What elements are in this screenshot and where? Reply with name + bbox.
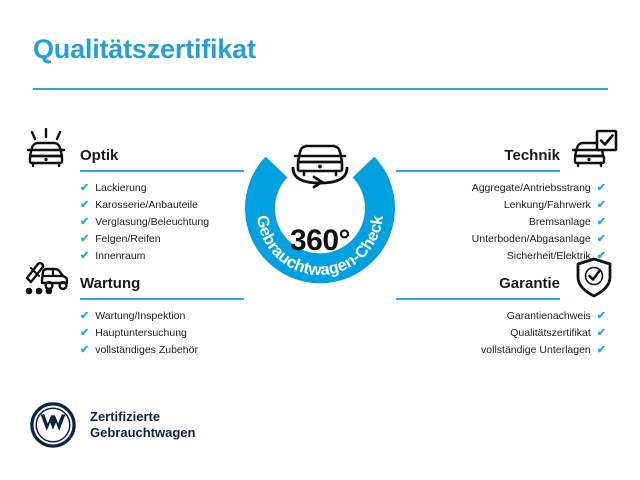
check-icon: ✔ [597, 200, 606, 211]
list-item-label: Verglasung/Beleuchtung [95, 214, 209, 231]
list-item: ✔ Karosserie/Anbauteile [80, 197, 244, 214]
list-item-label: Felgen/Reifen [95, 231, 160, 248]
section-optik-title: Optik [80, 147, 118, 164]
list-item: Garantienachweis ✔ [396, 308, 606, 325]
section-wartung: Wartung ✔ Wartung/Inspektion ✔ Hauptunte… [22, 256, 244, 359]
section-garantie-underline [396, 298, 560, 300]
check-icon: ✔ [597, 311, 606, 322]
list-item: ✔ Lackierung [80, 180, 244, 197]
list-item-label: Wartung/Inspektion [95, 308, 185, 325]
section-optik-header: Optik [22, 128, 244, 174]
wartung-check-list: ✔ Wartung/Inspektion ✔ Hauptuntersuchung… [22, 308, 244, 359]
check-icon: ✔ [80, 217, 89, 228]
vw-logo [30, 402, 76, 448]
list-item-label: Hauptuntersuchung [95, 325, 187, 342]
footer-brand: Zertifizierte Gebrauchtwagen [30, 402, 195, 448]
check-icon: ✔ [597, 234, 606, 245]
check-icon: ✔ [80, 200, 89, 211]
list-item: Lenkung/Fahrwerk ✔ [396, 197, 606, 214]
list-item-label: Unterboden/Abgasanlage [472, 231, 591, 248]
wrench-car-service-icon [22, 256, 70, 300]
list-item-label: Aggregate/Antriebsstrang [472, 180, 591, 197]
list-item: Qualitätszertifikat ✔ [396, 325, 606, 342]
check-icon: ✔ [597, 217, 606, 228]
badge-center-label: 360° [230, 224, 410, 258]
list-item-label: Lackierung [95, 180, 146, 197]
list-item: vollständige Unterlagen ✔ [396, 342, 606, 359]
section-technik-header: Technik [396, 128, 618, 174]
list-item-label: Garantienachweis [507, 308, 591, 325]
section-garantie: Garantie Garantienachweis ✔ Qualitätszer… [396, 256, 618, 359]
section-garantie-title: Garantie [499, 275, 560, 292]
list-item-label: vollständige Unterlagen [481, 342, 591, 359]
list-item-label: vollständiges Zubehör [95, 342, 198, 359]
footer-line-1: Zertifizierte [90, 409, 195, 425]
section-technik-title: Technik [504, 147, 560, 164]
check-icon: ✔ [597, 345, 606, 356]
car-front-checkbox-icon [570, 128, 618, 172]
list-item: Bremsanlage ✔ [396, 214, 606, 231]
section-wartung-underline [80, 298, 244, 300]
check-icon: ✔ [80, 345, 89, 356]
check-icon: ✔ [597, 328, 606, 339]
section-technik-underline [396, 170, 560, 172]
list-item-label: Lenkung/Fahrwerk [504, 197, 591, 214]
list-item: ✔ Verglasung/Beleuchtung [80, 214, 244, 231]
section-optik: Optik ✔ Lackierung ✔ Karosserie/Anbautei… [22, 128, 244, 265]
list-item: ✔ Hauptuntersuchung [80, 325, 244, 342]
section-technik: Technik Aggregate/Antriebsstrang ✔ Lenku… [396, 128, 618, 265]
optik-check-list: ✔ Lackierung ✔ Karosserie/Anbauteile ✔ V… [22, 180, 244, 265]
check-icon: ✔ [80, 183, 89, 194]
list-item-label: Bremsanlage [529, 214, 591, 231]
list-item: Aggregate/Antriebsstrang ✔ [396, 180, 606, 197]
technik-check-list: Aggregate/Antriebsstrang ✔ Lenkung/Fahrw… [396, 180, 618, 265]
title-divider [33, 88, 608, 90]
car-front-shine-icon [22, 128, 70, 172]
check-icon: ✔ [80, 234, 89, 245]
section-wartung-title: Wartung [80, 275, 140, 292]
garantie-check-list: Garantienachweis ✔ Qualitätszertifikat ✔… [396, 308, 618, 359]
list-item-label: Karosserie/Anbauteile [95, 197, 198, 214]
footer-brand-text: Zertifizierte Gebrauchtwagen [90, 409, 195, 441]
list-item: ✔ Wartung/Inspektion [80, 308, 244, 325]
section-optik-underline [80, 170, 244, 172]
section-wartung-header: Wartung [22, 256, 244, 302]
check-icon: ✔ [80, 328, 89, 339]
shield-check-icon [570, 256, 618, 300]
page-title: Qualitätszertifikat [33, 34, 256, 65]
list-item-label: Qualitätszertifikat [510, 325, 591, 342]
list-item: Unterboden/Abgasanlage ✔ [396, 231, 606, 248]
section-garantie-header: Garantie [396, 256, 618, 302]
badge-360-gebrauchtwagen-check: Gebrauchtwagen-Check 360° [230, 120, 410, 305]
list-item: ✔ vollständiges Zubehör [80, 342, 244, 359]
check-icon: ✔ [80, 311, 89, 322]
check-icon: ✔ [597, 183, 606, 194]
footer-line-2: Gebrauchtwagen [90, 425, 195, 441]
list-item: ✔ Felgen/Reifen [80, 231, 244, 248]
